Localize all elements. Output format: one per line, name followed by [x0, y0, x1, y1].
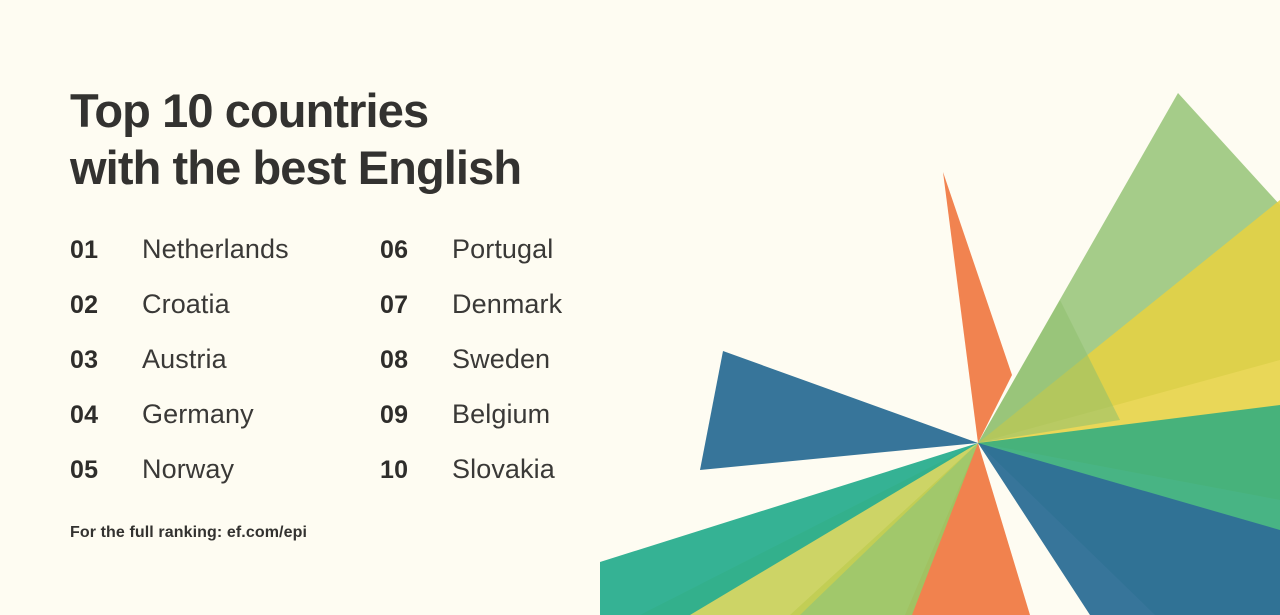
list-item: 04Germany [70, 387, 289, 442]
list-item: 02Croatia [70, 277, 289, 332]
content-column: Top 10 countries with the best English 0… [0, 0, 660, 615]
wedge-green-bottom [790, 443, 978, 615]
ranking-column-left: 01Netherlands 02Croatia 03Austria 04Germ… [70, 222, 289, 497]
wedge-orange-bottom [905, 443, 1030, 615]
rank-country: Croatia [142, 277, 230, 332]
list-item: 06Portugal [380, 222, 562, 277]
list-item: 05Norway [70, 442, 289, 497]
rank-number: 10 [380, 443, 452, 498]
rank-number: 09 [380, 388, 452, 443]
list-item: 07Denmark [380, 277, 562, 332]
wedge-green-spike-top-right [978, 93, 1280, 443]
rank-number: 03 [70, 333, 142, 388]
rank-number: 07 [380, 278, 452, 333]
rank-number: 02 [70, 278, 142, 333]
rank-country: Germany [142, 387, 254, 442]
list-item: 10Slovakia [380, 442, 562, 497]
wedge-yellow-green-bottom [640, 443, 978, 615]
wedge-green-overlay [978, 300, 1120, 443]
list-item: 01Netherlands [70, 222, 289, 277]
wedge-green-right [978, 405, 1280, 615]
rank-country: Slovakia [452, 442, 555, 497]
rank-country: Netherlands [142, 222, 289, 277]
rank-country: Denmark [452, 277, 562, 332]
rank-country: Portugal [452, 222, 553, 277]
rank-country: Sweden [452, 332, 550, 387]
rank-number: 01 [70, 223, 142, 278]
wedge-orange-spike-top [943, 172, 1012, 443]
rank-country: Norway [142, 442, 234, 497]
rank-country: Austria [142, 332, 227, 387]
rank-number: 05 [70, 443, 142, 498]
list-item: 08Sweden [380, 332, 562, 387]
poster-canvas: Top 10 countries with the best English 0… [0, 0, 1280, 615]
page-title-line-2: with the best English [70, 140, 670, 197]
wedge-blue-bottom-right [978, 443, 1280, 615]
list-item: 03Austria [70, 332, 289, 387]
rank-number: 04 [70, 388, 142, 443]
rank-number: 08 [380, 333, 452, 388]
rank-number: 06 [380, 223, 452, 278]
ranking-column-right: 06Portugal 07Denmark 08Sweden 09Belgium … [380, 222, 562, 497]
page-title: Top 10 countries with the best English [70, 83, 670, 197]
rank-country: Belgium [452, 387, 550, 442]
footer-note: For the full ranking: ef.com/epi [70, 524, 307, 542]
list-item: 09Belgium [380, 387, 562, 442]
wedge-blue-spike-left [700, 351, 978, 470]
wedge-yellow-right [978, 200, 1280, 500]
page-title-line-1: Top 10 countries [70, 83, 670, 140]
